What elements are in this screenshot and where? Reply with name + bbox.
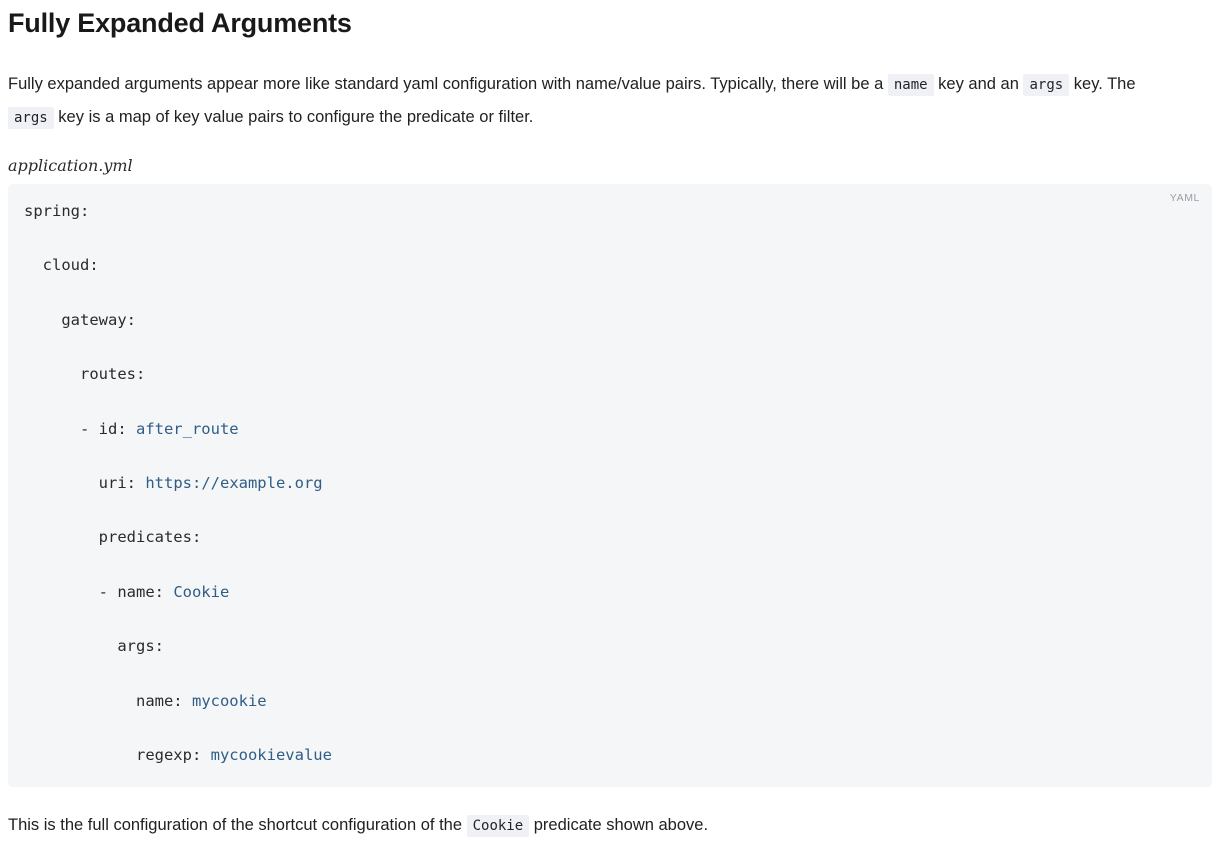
code-value: Cookie (173, 583, 229, 601)
code-line: - id: after_route (24, 416, 1196, 443)
document-page: Fully Expanded Arguments Fully expanded … (0, 0, 1224, 856)
code-key: routes: (24, 365, 145, 383)
code-key: - id: (24, 420, 136, 438)
code-line: args: (24, 633, 1196, 660)
code-line: gateway: (24, 307, 1196, 334)
code-language-label: YAML (1170, 192, 1200, 204)
code-key: cloud: (24, 256, 99, 274)
code-line: - name: Cookie (24, 579, 1196, 606)
intro-paragraph: Fully expanded arguments appear more lik… (8, 40, 1183, 134)
code-line: regexp: mycookievalue (24, 742, 1196, 769)
code-key: predicates: (24, 528, 201, 546)
code-line: name: mycookie (24, 688, 1196, 715)
inline-code-cookie: Cookie (467, 815, 530, 837)
intro-text-segment-3: key. The (1069, 75, 1135, 93)
code-key: args: (24, 637, 164, 655)
intro-text-segment-1: Fully expanded arguments appear more lik… (8, 75, 888, 93)
code-line: predicates: (24, 524, 1196, 551)
code-key: - name: (24, 583, 173, 601)
inline-code-name: name (888, 74, 934, 96)
inline-code-args-1: args (1023, 74, 1069, 96)
inline-code-args-2: args (8, 107, 54, 129)
code-line: cloud: (24, 252, 1196, 279)
code-listing-content[interactable]: spring: cloud: gateway: routes: - id: af… (24, 198, 1196, 769)
code-key: spring: (24, 202, 89, 220)
code-line: uri: https://example.org (24, 470, 1196, 497)
footer-text-segment-1: This is the full configuration of the sh… (8, 816, 467, 834)
intro-text-segment-2: key and an (934, 75, 1024, 93)
code-key: name: (24, 692, 192, 710)
footer-paragraph: This is the full configuration of the sh… (8, 787, 1183, 842)
code-value: after_route (136, 420, 239, 438)
code-listing-caption: application.yml (8, 134, 1216, 184)
code-value: mycookie (192, 692, 267, 710)
page-title: Fully Expanded Arguments (8, 0, 1216, 40)
code-value: mycookievalue (211, 746, 332, 764)
code-key: gateway: (24, 311, 136, 329)
code-key: uri: (24, 474, 145, 492)
intro-text-segment-4: key is a map of key value pairs to confi… (54, 108, 534, 126)
code-key: regexp: (24, 746, 211, 764)
footer-text-segment-2: predicate shown above. (529, 816, 708, 834)
bottom-spacer (8, 842, 1216, 856)
code-line: spring: (24, 198, 1196, 225)
code-value: https://example.org (145, 474, 322, 492)
code-line: routes: (24, 361, 1196, 388)
code-listing-block: YAML spring: cloud: gateway: routes: - i… (8, 184, 1212, 787)
